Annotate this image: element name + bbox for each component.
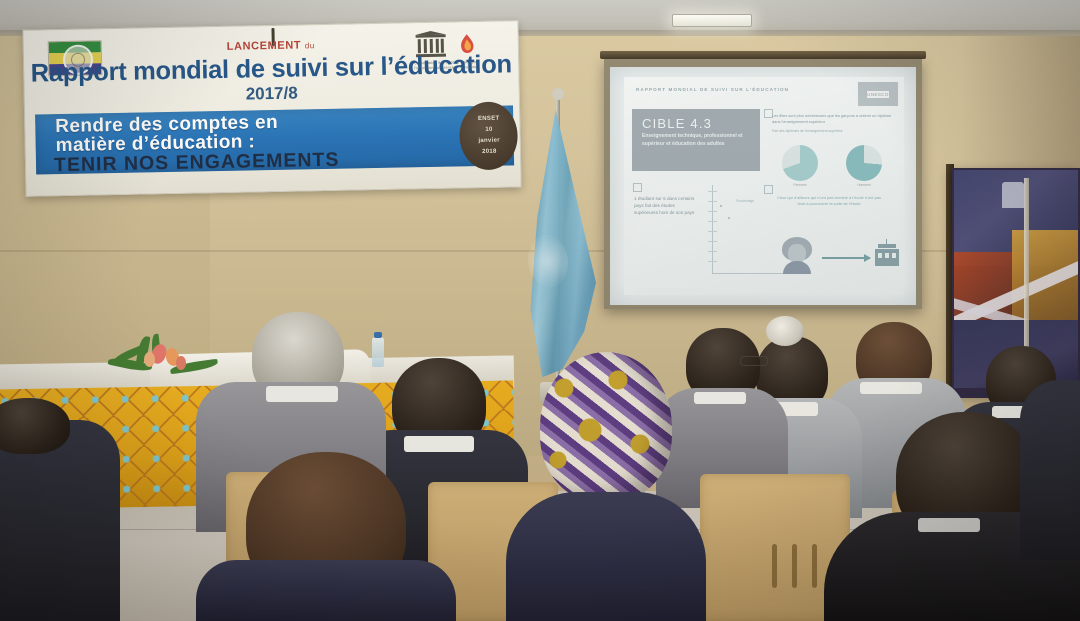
axis-tick (708, 211, 717, 212)
pie-chart-right (846, 145, 882, 181)
event-banner: Organisation des Nations Unies pour l’éd… (22, 20, 521, 196)
water-bottle-cap (374, 332, 382, 338)
banner-kicker-small: du (305, 41, 315, 50)
enset-badge-line4: 2018 (465, 148, 514, 155)
water-bottle (372, 337, 384, 367)
axis-tick (708, 191, 717, 192)
school-building-icon (874, 239, 900, 269)
conference-photo-scene: Organisation des Nations Unies pour l’éd… (0, 0, 1080, 621)
fluorescent-light-icon (672, 14, 752, 27)
axis-tick (708, 231, 717, 232)
eyeglasses (740, 356, 768, 366)
pie-chart-right-caption: Hommes (841, 183, 887, 187)
axis-tick (708, 221, 717, 222)
slide-logo-label: UNESCO (867, 91, 889, 98)
rollup-pole-graphic (1024, 178, 1029, 358)
slide-target-number: CIBLE 4.3 (642, 116, 712, 131)
slide-note-bottom-right: Ceux qui d’ailleurs qui n’ont pas termin… (774, 195, 884, 207)
enset-badge-line1: ENSET (464, 115, 513, 122)
arrow-right-icon (822, 257, 870, 259)
chart-data-point (728, 217, 730, 219)
rollup-lantern-icon (1002, 182, 1024, 208)
pie-chart-left (782, 145, 818, 181)
slide-note-top-right-sub: Part des diplômés de l’enseignement supé… (772, 129, 894, 135)
chart-axis-label: Pourcentage (736, 199, 754, 203)
projection-surface: RAPPORT MONDIAL DE SUIVI SUR L’ÉDUCATION… (610, 67, 916, 305)
screen-top-bar (600, 51, 926, 59)
floral-arrangement (108, 330, 228, 386)
chart-data-point (720, 205, 722, 207)
enset-badge-line3: janvier (465, 137, 514, 144)
banner-kicker-text: LANCEMENT (227, 39, 302, 52)
projection-screen-assembly: RAPPORT MONDIAL DE SUIVI SUR L’ÉDUCATION… (604, 57, 922, 312)
slide-note-top-right: Les filles sont plus nombreuses que les … (772, 113, 894, 124)
enset-badge: ENSET 10 janvier 2018 (459, 101, 518, 170)
slide-header: RAPPORT MONDIAL DE SUIVI SUR L’ÉDUCATION (636, 87, 789, 92)
slide-target-subtitle: Enseignement technique, professionnel et… (642, 133, 752, 148)
axis-tick (708, 201, 717, 202)
slide-marker-icon-2 (633, 183, 642, 192)
screen-frame: RAPPORT MONDIAL DE SUIVI SUR L’ÉDUCATION… (604, 59, 922, 309)
chart-y-axis (712, 185, 713, 273)
slide-note-bottom-left: 1 étudiant sur 5 dans certains pays fait… (634, 195, 696, 217)
person-avatar-icon (780, 237, 814, 273)
slide-marker-icon-3 (764, 185, 773, 194)
enset-badge-line2: 10 (464, 126, 513, 133)
pie-chart-left-caption: Femmes (777, 183, 823, 187)
axis-tick (708, 261, 717, 262)
slide-unesco-logo: UNESCO (858, 82, 898, 106)
attendee-headwrap-woman-body (506, 492, 706, 621)
presentation-slide: RAPPORT MONDIAL DE SUIVI SUR L’ÉDUCATION… (624, 77, 904, 295)
attendee-headwrap-woman (540, 352, 672, 502)
axis-tick (708, 241, 717, 242)
flag-pole-knob (552, 88, 564, 100)
slide-title-block: CIBLE 4.3 Enseignement technique, profes… (632, 109, 760, 171)
axis-tick (708, 251, 717, 252)
banner-blue-bar: Rendre des comptes en matière d’éducatio… (35, 105, 514, 174)
chart-x-axis (712, 273, 786, 274)
